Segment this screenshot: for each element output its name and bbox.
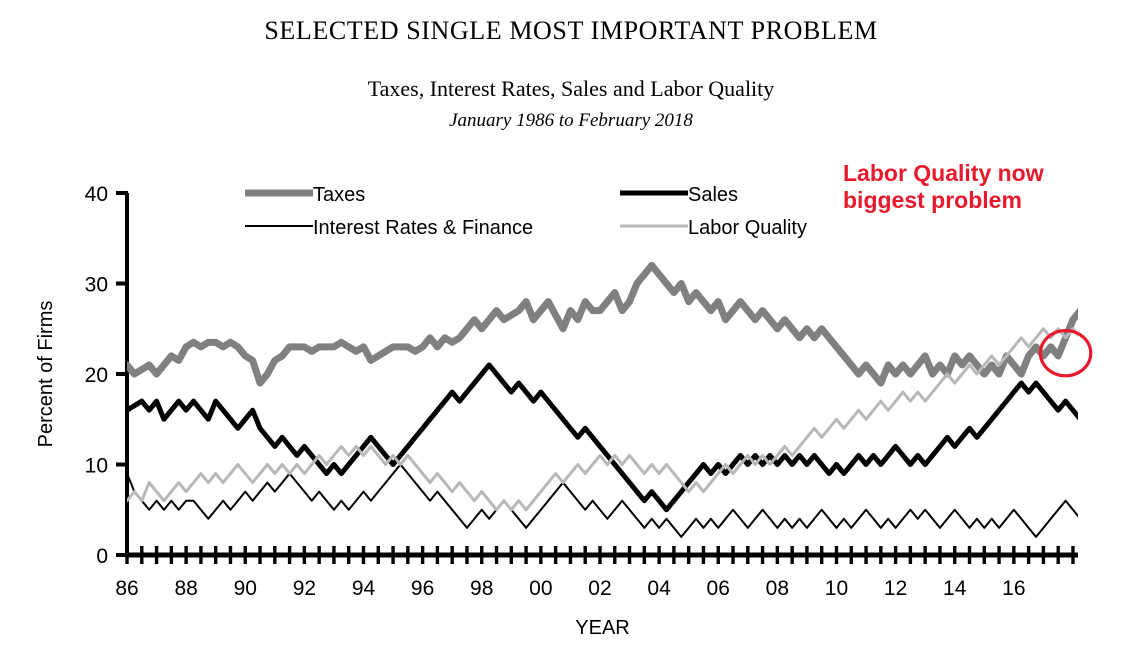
chart-subtitle: Taxes, Interest Rates, Sales and Labor Q… [0, 76, 1142, 102]
legend-label-sales: Sales [688, 184, 738, 206]
x-tick-label: 02 [588, 577, 611, 600]
x-tick-label: 06 [707, 577, 730, 600]
annotation-line-1: Labor Quality now [843, 160, 1133, 187]
x-tick-label: 90 [234, 577, 257, 600]
x-axis-title: YEAR [575, 617, 629, 639]
x-tick-label: 96 [411, 577, 434, 600]
y-tick-label: 30 [85, 274, 108, 297]
x-tick-label: 86 [115, 577, 138, 600]
x-tick-label: 16 [1002, 577, 1025, 600]
annotation-line-2: biggest problem [843, 187, 1133, 214]
y-tick-label: 40 [85, 183, 108, 206]
x-tick-label: 94 [352, 577, 376, 600]
y-tick-label: 20 [85, 364, 108, 387]
x-tick-label: 08 [766, 577, 789, 600]
y-axis-title: Percent of Firms [35, 301, 57, 448]
y-tick-label: 0 [96, 545, 108, 568]
x-tick-label: 98 [470, 577, 493, 600]
chart-date-range: January 1986 to February 2018 [0, 110, 1142, 132]
x-tick-label: 04 [647, 577, 671, 600]
x-tick-label: 92 [293, 577, 316, 600]
chart-title: SELECTED SINGLE MOST IMPORTANT PROBLEM [0, 16, 1142, 46]
y-tick-label: 10 [85, 455, 108, 478]
x-tick-label: 12 [884, 577, 907, 600]
legend-label-labor-quality: Labor Quality [688, 217, 807, 239]
x-tick-label: 00 [529, 577, 552, 600]
x-tick-label: 88 [174, 577, 197, 600]
legend-label-interest-rates-finance: Interest Rates & Finance [313, 217, 533, 239]
x-tick-label: 10 [825, 577, 848, 600]
x-tick-label: 14 [943, 577, 967, 600]
legend-label-taxes: Taxes [313, 184, 365, 206]
annotation-callout: Labor Quality now biggest problem [843, 160, 1133, 214]
